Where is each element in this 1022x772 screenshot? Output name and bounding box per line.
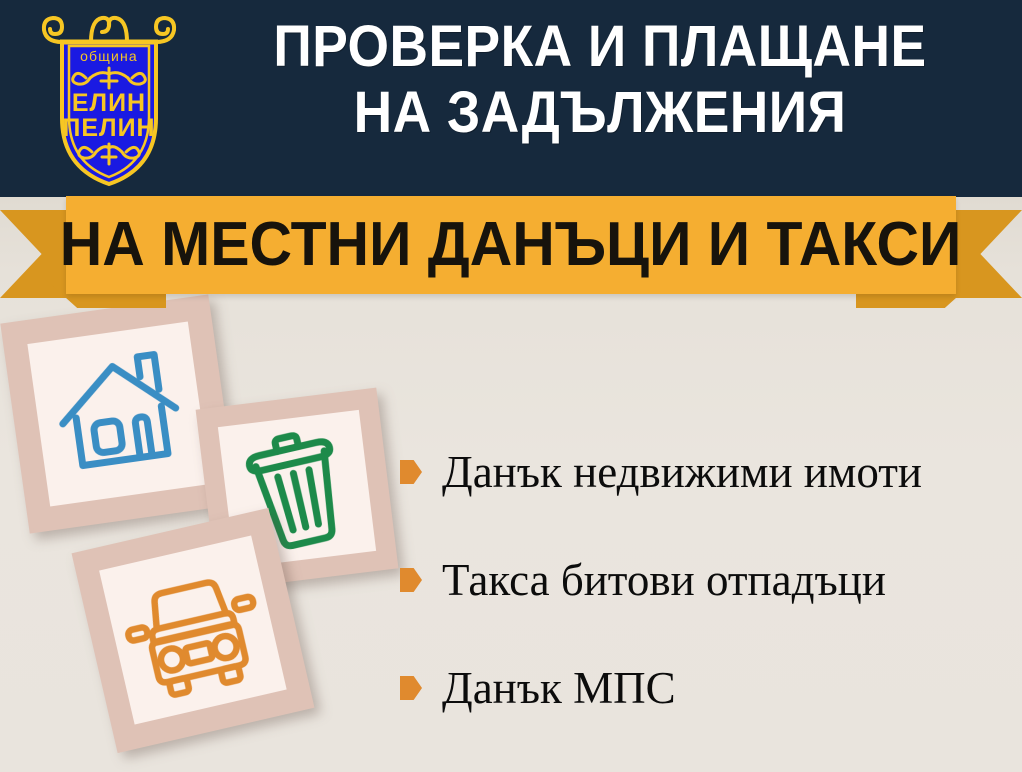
municipality-crest: община ЕЛИН ПЕЛИН: [34, 8, 184, 190]
list-item-label: Данък недвижими имоти: [442, 450, 922, 495]
subtitle-ribbon: НА МЕСТНИ ДАНЪЦИ И ТАКСИ: [0, 196, 1022, 316]
header-banner: община ЕЛИН ПЕЛИН: [0, 0, 1022, 197]
svg-text:ЕЛИН: ЕЛИН: [72, 89, 146, 117]
bullet-arrow-icon: [400, 460, 422, 484]
stamp-card-group: [0, 300, 420, 772]
list-item-label: Такса битови отпадъци: [442, 558, 886, 603]
title-line-2: НА ЗАДЪЛЖЕНИЯ: [223, 80, 977, 146]
bullet-arrow-icon: [400, 676, 422, 700]
list-item[interactable]: Такса битови отпадъци: [400, 526, 1020, 634]
bullet-arrow-icon: [400, 568, 422, 592]
list-item[interactable]: Данък МПС: [400, 634, 1020, 742]
poster-canvas: община ЕЛИН ПЕЛИН: [0, 0, 1022, 772]
title-line-1: ПРОВЕРКА И ПЛАЩАНЕ: [223, 14, 977, 80]
list-item-label: Данък МПС: [442, 666, 676, 711]
ribbon-band: НА МЕСТНИ ДАНЪЦИ И ТАКСИ: [66, 196, 956, 294]
tax-type-list: Данък недвижими имоти Такса битови отпад…: [400, 418, 1020, 742]
svg-text:община: община: [80, 48, 138, 64]
ribbon-label: НА МЕСТНИ ДАНЪЦИ И ТАКСИ: [60, 214, 962, 276]
list-item[interactable]: Данък недвижими имоти: [400, 418, 1020, 526]
svg-text:ПЕЛИН: ПЕЛИН: [62, 114, 155, 142]
page-title: ПРОВЕРКА И ПЛАЩАНЕ НА ЗАДЪЛЖЕНИЯ: [223, 14, 977, 146]
